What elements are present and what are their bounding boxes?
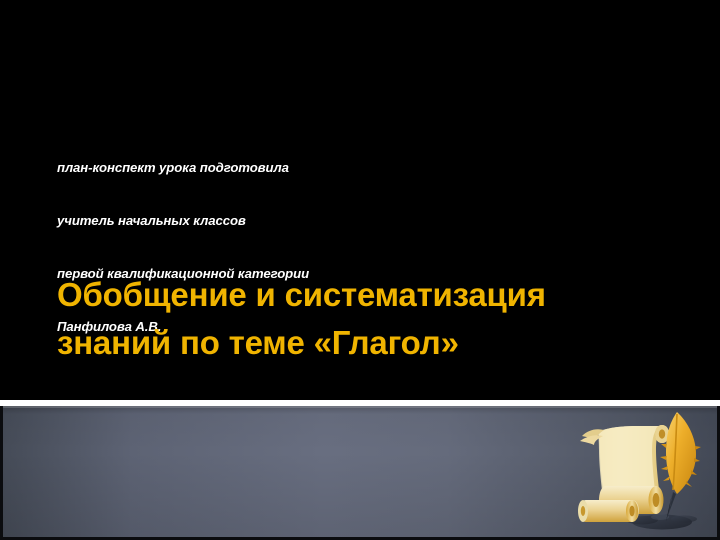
- credits-paragraph-gap: [57, 370, 477, 387]
- slide-title-line-2: знаний по теме «Глагол»: [57, 319, 667, 367]
- slide-title-line-1: Обобщение и систематизация: [57, 271, 667, 319]
- scroll-and-quill-illustration: [556, 404, 720, 540]
- slide-title: Обобщение и систематизация знаний по тем…: [57, 271, 667, 367]
- credits-line-1: план-конспект урока подготовила: [57, 159, 477, 177]
- parchment-sheet: [580, 425, 669, 496]
- presentation-slide: план-конспект урока подготовила учитель …: [0, 0, 720, 540]
- credits-line-2: учитель начальных классов: [57, 212, 477, 230]
